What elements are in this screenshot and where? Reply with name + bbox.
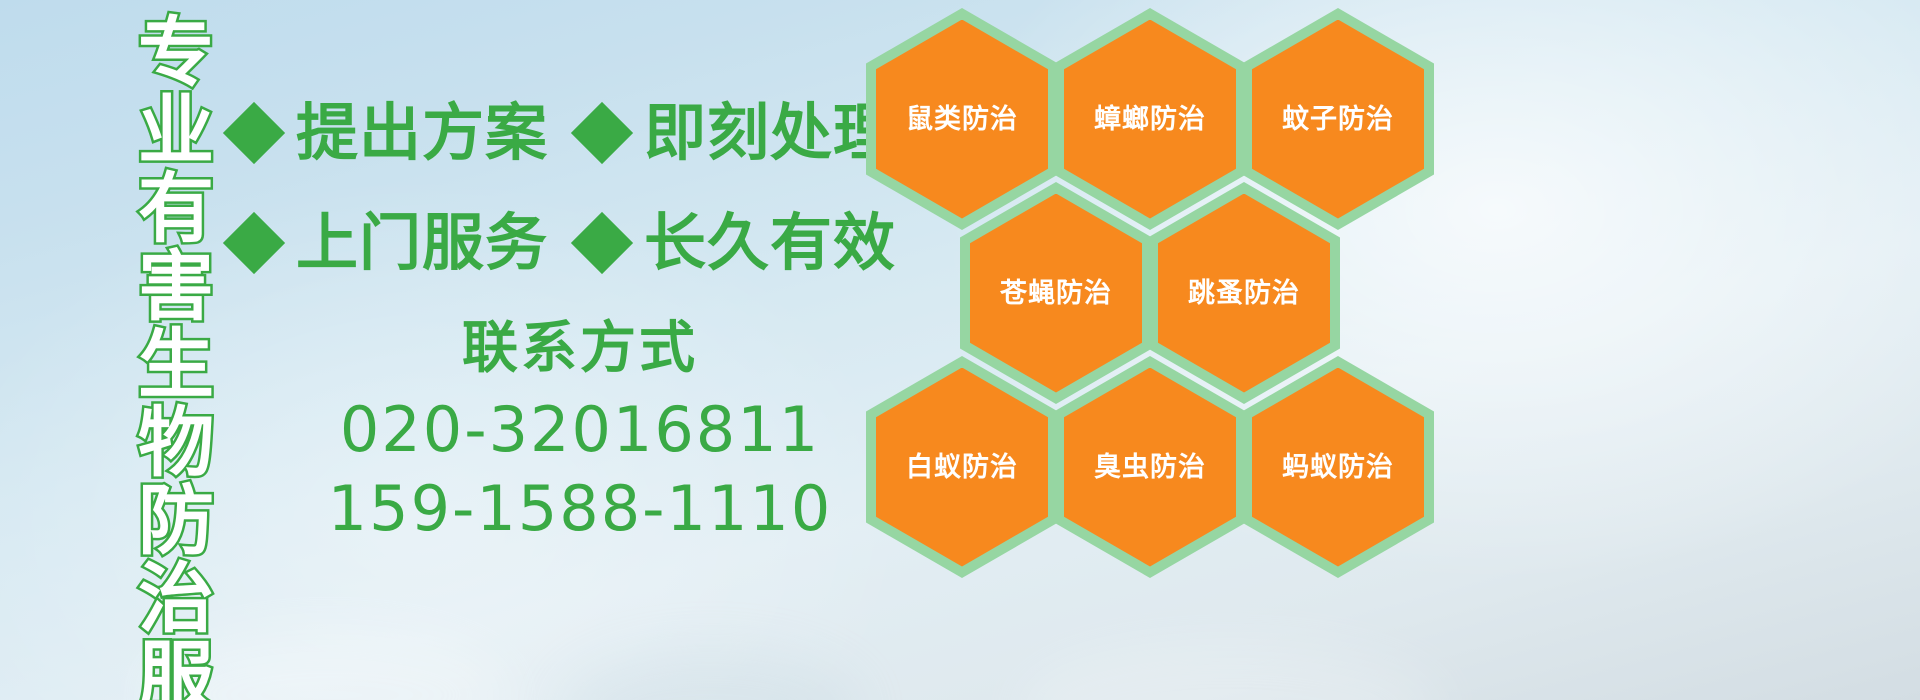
service-hex-label: 白蚁防治 (906, 454, 1018, 481)
service-hex-cockroach[interactable]: 蟑螂防治 (1054, 8, 1246, 230)
service-hex-rodent[interactable]: 鼠类防治 (866, 8, 1058, 230)
background-blur-blob (560, 650, 860, 700)
service-hex-inner: 蟑螂防治 (1064, 20, 1236, 219)
service-hex-label: 蚂蚁防治 (1282, 454, 1394, 481)
feature-item: 长久有效 (580, 212, 896, 274)
service-hex-inner: 苍蝇防治 (970, 194, 1142, 393)
feature-item: 上门服务 (232, 212, 548, 274)
service-hex-label: 苍蝇防治 (1000, 280, 1112, 307)
service-hex-label: 臭虫防治 (1094, 454, 1206, 481)
service-hex-inner: 跳蚤防治 (1158, 194, 1330, 393)
feature-label: 上门服务 (296, 212, 548, 274)
feature-label: 提出方案 (296, 102, 548, 164)
vertical-slogan: 专业有害生物防治服务 (112, 12, 208, 700)
service-hex-fly[interactable]: 苍蝇防治 (960, 182, 1152, 404)
feature-row: 提出方案 即刻处理 (232, 78, 872, 188)
service-hex-mosquito[interactable]: 蚊子防治 (1242, 8, 1434, 230)
contact-block: 联系方式 020-32016811 159-1588-1110 (300, 318, 860, 548)
service-hex-label: 跳蚤防治 (1188, 280, 1300, 307)
service-hex-label: 蚊子防治 (1282, 106, 1394, 133)
service-hex-inner: 蚊子防治 (1252, 20, 1424, 219)
service-hex-termite[interactable]: 白蚁防治 (866, 356, 1058, 578)
diamond-bullet-icon (223, 102, 285, 164)
service-honeycomb: 鼠类防治 蟑螂防治 蚊子防治 苍蝇防治 跳蚤防治 白蚁防治 (858, 0, 1458, 700)
service-hex-ant[interactable]: 蚂蚁防治 (1242, 356, 1434, 578)
pest-control-banner: 专业有害生物防治服务 提出方案 即刻处理 上门服务 长久有效 (0, 0, 1920, 700)
phone-mobile[interactable]: 159-1588-1110 (300, 469, 860, 548)
service-hex-label: 蟑螂防治 (1094, 106, 1206, 133)
service-hex-inner: 鼠类防治 (876, 20, 1048, 219)
service-hex-bedbug[interactable]: 臭虫防治 (1054, 356, 1246, 578)
feature-item: 即刻处理 (580, 102, 896, 164)
phone-landline[interactable]: 020-32016811 (300, 390, 860, 469)
contact-title: 联系方式 (300, 318, 860, 380)
diamond-bullet-icon (571, 212, 633, 274)
diamond-bullet-icon (571, 102, 633, 164)
service-hex-flea[interactable]: 跳蚤防治 (1148, 182, 1340, 404)
feature-row: 上门服务 长久有效 (232, 188, 872, 298)
feature-item: 提出方案 (232, 102, 548, 164)
service-hex-inner: 蚂蚁防治 (1252, 368, 1424, 567)
feature-list: 提出方案 即刻处理 上门服务 长久有效 (232, 78, 872, 298)
service-hex-inner: 臭虫防治 (1064, 368, 1236, 567)
diamond-bullet-icon (223, 212, 285, 274)
service-hex-inner: 白蚁防治 (876, 368, 1048, 567)
service-hex-label: 鼠类防治 (906, 106, 1018, 133)
